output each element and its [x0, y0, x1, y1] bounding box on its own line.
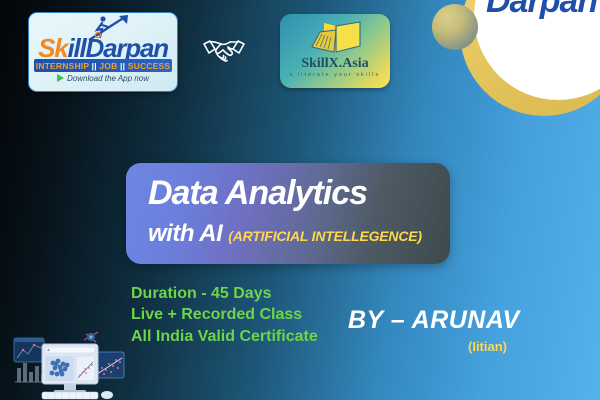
instructor-name: BY – ARUNAV — [348, 306, 520, 335]
corner-logo-line2: Darpan — [486, 0, 600, 15]
corner-badge: Skill Darpan — [422, 0, 600, 140]
hero-subtitle-expansion: (ARTIFICIAL INTELLEGENCE) — [228, 228, 422, 244]
feature-item-certificate: All India Valid Certificate — [131, 326, 318, 347]
skilldarpan-logo-card[interactable]: SkillDarpan INTERNSHIP || JOB || SUCCESS… — [28, 12, 178, 92]
skilldarpan-tagline-band: INTERNSHIP || JOB || SUCCESS — [34, 59, 172, 72]
gold-sphere — [432, 4, 478, 50]
hero-subtitle: with AI(ARTIFICIAL INTELLEGENCE) — [148, 222, 422, 246]
feature-item-duration: Duration - 45 Days — [131, 283, 318, 304]
skillx-logo-card[interactable]: SkillX.Asia x literate your skills — [280, 14, 390, 88]
open-book-icon — [310, 20, 362, 54]
feature-list: Duration - 45 Days Live + Recorded Class… — [131, 283, 318, 347]
corner-logo-text: Skill Darpan — [486, 0, 600, 15]
hero-subtitle-main: with AI — [148, 220, 222, 247]
hero-title-card: Data Analytics with AI(ARTIFICIAL INTELL… — [126, 163, 450, 264]
skillx-tagline: x literate your skills — [280, 72, 390, 78]
promotional-poster: Skill Darpan SkillDarpan INTERNSHIP || J… — [0, 0, 600, 400]
download-app-link[interactable]: Download the App now — [29, 74, 177, 83]
skillx-title: SkillX.Asia — [280, 56, 390, 72]
handshake-icon — [200, 30, 248, 70]
instructor-credential: (Iitian) — [468, 339, 507, 354]
skilldarpan-wordmark: SkillDarpan — [29, 35, 177, 61]
data-analytics-illustration — [12, 330, 134, 400]
hero-title: Data Analytics — [148, 176, 367, 210]
play-store-icon — [57, 74, 64, 82]
feature-item-class-mode: Live + Recorded Class — [131, 304, 318, 325]
